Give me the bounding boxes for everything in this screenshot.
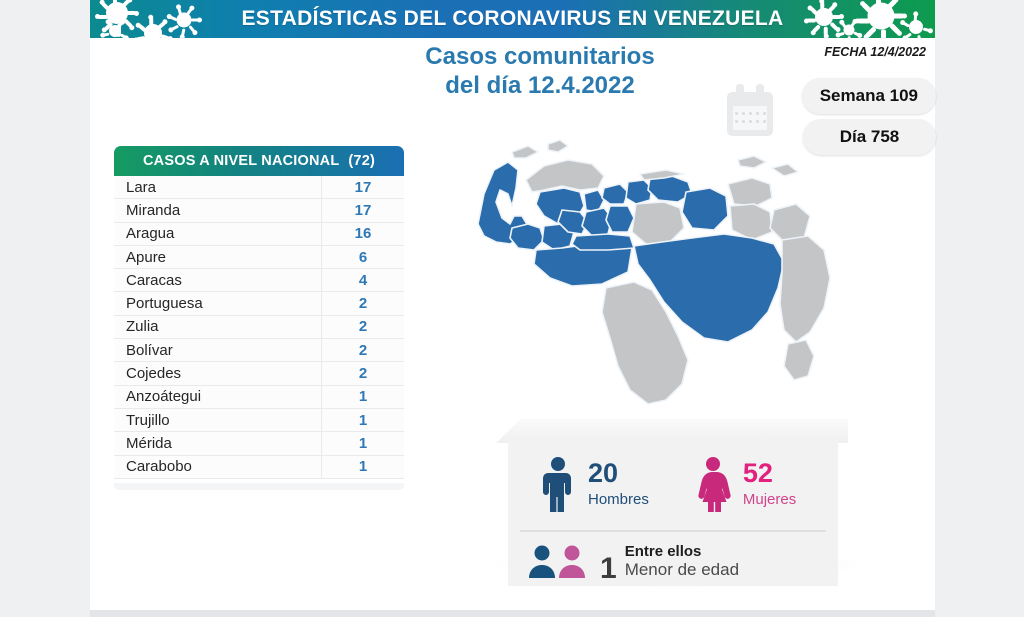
map-state-delta-amacuro — [770, 204, 810, 240]
state-name: Carabobo — [114, 458, 321, 475]
panel-divider — [520, 530, 826, 532]
state-count: 1 — [321, 409, 404, 431]
state-count: 17 — [321, 199, 404, 221]
table-row: Bolívar2 — [114, 339, 404, 362]
national-cases-table: CASOS A NIVEL NACIONAL (72) Lara17Mirand… — [114, 146, 404, 490]
state-count: 2 — [321, 362, 404, 384]
calendar-icon — [723, 82, 777, 138]
women-text: 52 Mujeres — [743, 460, 796, 508]
men-count: 20 — [588, 460, 649, 487]
header-banner: ESTADÍSTICAS DEL CORONAVIRUS EN VENEZUEL… — [90, 0, 935, 38]
minor-line-2: Menor de edad — [625, 560, 739, 580]
map-state-esequibo — [780, 236, 830, 342]
map-state-barinas — [572, 234, 634, 250]
men-label: Hombres — [588, 491, 649, 508]
banner-title: ESTADÍSTICAS DEL CORONAVIRUS EN VENEZUEL… — [90, 7, 935, 31]
minor-text: Entre ellos Menor de edad — [625, 543, 739, 580]
state-count: 2 — [321, 292, 404, 314]
male-figure-icon — [538, 456, 578, 512]
map-state-esequibo-south — [784, 340, 814, 380]
map-state-falcon — [526, 160, 604, 192]
map-state-aragua — [626, 180, 652, 204]
state-name: Miranda — [114, 202, 321, 219]
subtitle-line-2: del día 12.4.2022 — [330, 71, 750, 100]
map-state-guarico — [632, 202, 684, 244]
state-name: Bolívar — [114, 342, 321, 359]
table-row: Portuguesa2 — [114, 292, 404, 315]
fecha-label: FECHA 12/4/2022 — [824, 45, 926, 59]
state-count: 1 — [321, 432, 404, 454]
map-state-cojedes — [606, 206, 634, 232]
table-header: CASOS A NIVEL NACIONAL (72) — [114, 146, 404, 176]
men-stat: 20 Hombres — [538, 456, 649, 512]
gender-stats-panel: 20 Hombres 52 Mujeres — [508, 440, 838, 586]
table-row: Cojedes2 — [114, 362, 404, 385]
minor-row: 1 Entre ellos Menor de edad — [508, 536, 838, 586]
table-footer — [114, 483, 404, 490]
women-count: 52 — [743, 460, 796, 487]
table-row: Trujillo1 — [114, 409, 404, 432]
female-figure-icon — [693, 456, 733, 512]
venezuela-map — [452, 132, 854, 432]
state-name: Apure — [114, 249, 321, 266]
state-name: Zulia — [114, 318, 321, 335]
table-title: CASOS A NIVEL NACIONAL — [143, 153, 339, 169]
map-state-sucre — [728, 178, 772, 206]
map-state-tachira — [510, 224, 544, 250]
women-stat: 52 Mujeres — [693, 456, 796, 512]
table-row: Zulia2 — [114, 316, 404, 339]
gender-row: 20 Hombres 52 Mujeres — [508, 440, 838, 528]
minor-line-1: Entre ellos — [625, 543, 739, 560]
table-total: (72) — [348, 153, 375, 169]
state-name: Mérida — [114, 435, 321, 452]
two-people-icon — [526, 544, 590, 578]
state-count: 16 — [321, 223, 404, 245]
state-count: 1 — [321, 456, 404, 478]
table-row: Anzoátegui1 — [114, 386, 404, 409]
state-name: Caracas — [114, 272, 321, 289]
map-state-coast-islet-2 — [548, 140, 568, 152]
map-state-nueva-esparta — [738, 156, 766, 168]
bottom-strip — [90, 610, 935, 617]
map-state-monagas — [730, 204, 772, 240]
state-count: 2 — [321, 339, 404, 361]
week-badge[interactable]: Semana 109 — [802, 78, 936, 114]
state-count: 2 — [321, 316, 404, 338]
map-state-anzoategui — [682, 188, 728, 230]
men-text: 20 Hombres — [588, 460, 649, 508]
state-count: 4 — [321, 269, 404, 291]
map-state-nueva-esparta-2 — [772, 164, 798, 176]
state-name: Trujillo — [114, 412, 321, 429]
map-state-carabobo — [602, 184, 628, 204]
state-count: 6 — [321, 246, 404, 268]
state-name: Lara — [114, 179, 321, 196]
state-name: Cojedes — [114, 365, 321, 382]
state-name: Anzoátegui — [114, 388, 321, 405]
table-row: Caracas4 — [114, 269, 404, 292]
table-row: Miranda17 — [114, 199, 404, 222]
state-count: 17 — [321, 176, 404, 198]
women-label: Mujeres — [743, 491, 796, 508]
table-row: Apure6 — [114, 246, 404, 269]
table-row: Carabobo1 — [114, 456, 404, 479]
state-name: Aragua — [114, 225, 321, 242]
table-row: Mérida1 — [114, 432, 404, 455]
table-row: Aragua16 — [114, 223, 404, 246]
page-subtitle: Casos comunitarios del día 12.4.2022 — [330, 42, 750, 101]
subtitle-line-1: Casos comunitarios — [425, 43, 654, 70]
table-body: Lara17Miranda17Aragua16Apure6Caracas4Por… — [114, 176, 404, 483]
table-row: Lara17 — [114, 176, 404, 199]
state-count: 1 — [321, 386, 404, 408]
infographic-page: ESTADÍSTICAS DEL CORONAVIRUS EN VENEZUEL… — [0, 0, 1024, 617]
minor-count: 1 — [600, 554, 617, 586]
map-state-coast-islet — [512, 146, 538, 158]
state-name: Portuguesa — [114, 295, 321, 312]
